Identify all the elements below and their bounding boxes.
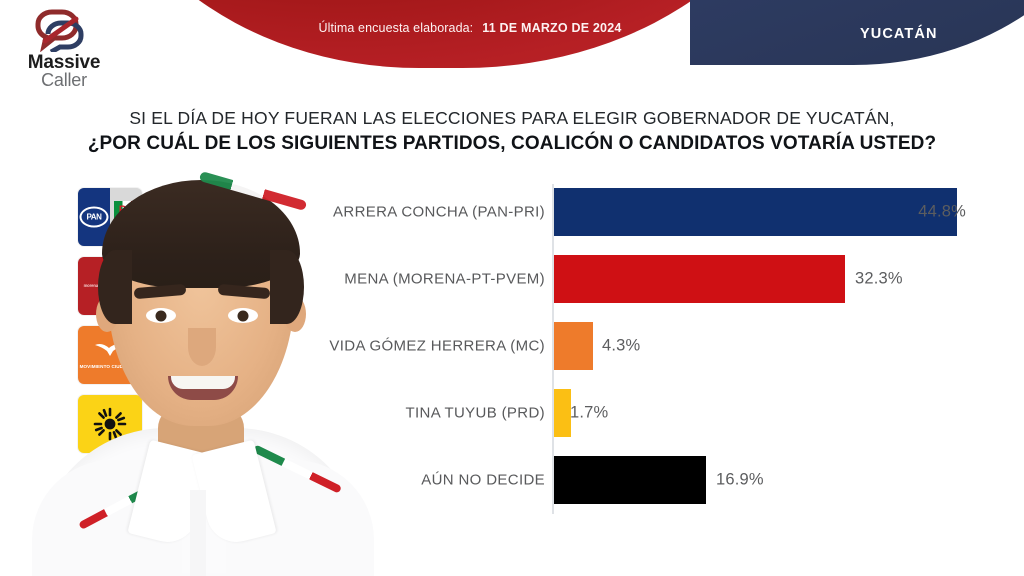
question-title: SI EL DÍA DE HOY FUERAN LAS ELECCIONES P… (0, 106, 1024, 157)
photo-hair-right (270, 250, 304, 324)
survey-date: Última encuesta elaborada:11 DE MARZO DE… (300, 21, 640, 35)
candidate-photo (30, 160, 370, 576)
photo-hair-left (98, 250, 132, 324)
photo-eye-right (228, 308, 258, 323)
bar-segment (554, 389, 571, 437)
bar-segment (554, 188, 957, 236)
photo-nose (188, 328, 216, 366)
poll-infographic: Última encuesta elaborada:11 DE MARZO DE… (0, 0, 1024, 576)
bar-label: AÚN NO DECIDE (421, 472, 545, 489)
photo-shirt-placket (190, 490, 206, 576)
bar-value-label: 16.9% (716, 471, 764, 490)
header-banner: Última encuesta elaborada:11 DE MARZO DE… (0, 0, 1024, 90)
question-line-2: ¿POR CUÁL DE LOS SIGUIENTES PARTIDOS, CO… (0, 131, 1024, 157)
bar-value-label: 44.8% (918, 203, 966, 222)
survey-date-label: Última encuesta elaborada: (318, 21, 473, 35)
photo-teeth (171, 376, 235, 389)
bar-label: MENA (MORENA-PT-PVEM) (344, 271, 545, 288)
bar-label: TINA TUYUB (PRD) (405, 405, 545, 422)
header-navy-shape (690, 0, 1024, 65)
question-line-1: SI EL DÍA DE HOY FUERAN LAS ELECCIONES P… (0, 106, 1024, 130)
state-label: YUCATÁN (860, 26, 938, 42)
photo-pupil-left (156, 310, 167, 321)
bar-value-label: 1.7% (570, 404, 608, 423)
photo-pupil-right (238, 310, 249, 321)
bar-segment (554, 456, 706, 504)
brand-logo-line2: Caller (10, 71, 118, 89)
bar-segment (554, 322, 593, 370)
survey-date-value: 11 DE MARZO DE 2024 (482, 21, 621, 35)
brand-logo: Massive Caller (10, 8, 118, 88)
bar-value-label: 32.3% (855, 270, 903, 289)
photo-eye-left (146, 308, 176, 323)
bar-value-label: 4.3% (602, 337, 640, 356)
bar-segment (554, 255, 845, 303)
chat-bubble-icon (32, 8, 88, 52)
